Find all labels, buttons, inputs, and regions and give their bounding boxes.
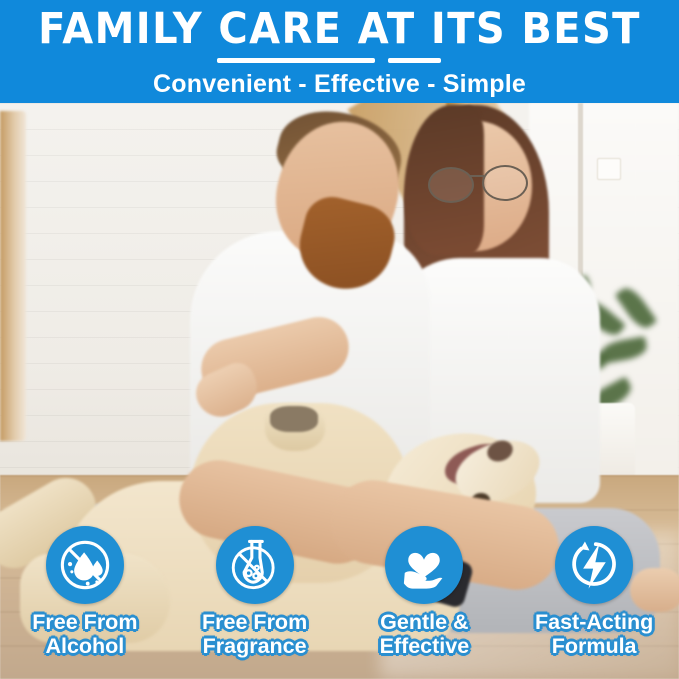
heart-in-hand-icon: [396, 537, 452, 593]
product-infographic: FAMILY CARE AT ITS BEST Convenient - Eff…: [0, 0, 679, 679]
feature-gentle-effective: Gentle & Effective: [340, 526, 510, 679]
feature-icon-circle: [46, 526, 124, 604]
feature-badges: Free From Alcohol: [0, 526, 679, 679]
feature-free-from-fragrance: Free From Fragrance: [170, 526, 340, 679]
feature-icon-circle: [385, 526, 463, 604]
photo-door-frame: [0, 111, 26, 441]
photo-dog-paw-pads: [270, 406, 318, 432]
header-banner: FAMILY CARE AT ITS BEST Convenient - Eff…: [0, 0, 679, 103]
lightning-refresh-icon: [565, 536, 623, 594]
feature-fast-acting-formula: Fast-Acting Formula: [509, 526, 679, 679]
feature-free-from-alcohol: Free From Alcohol: [0, 526, 170, 679]
feature-label: Fast-Acting Formula: [535, 610, 653, 658]
feature-label: Gentle & Effective: [380, 610, 470, 658]
feature-icon-circle: [555, 526, 633, 604]
no-alcohol-droplet-icon: [56, 536, 114, 594]
feature-label: Free From Alcohol: [32, 610, 137, 658]
page-title: FAMILY CARE AT ITS BEST: [24, 5, 655, 53]
no-fragrance-flask-icon: [226, 536, 284, 594]
feature-icon-circle: [216, 526, 294, 604]
divider-line-short: [388, 58, 441, 63]
divider-line-long: [217, 58, 375, 63]
title-divider: [0, 58, 679, 64]
photo-woman-glasses: [426, 165, 530, 199]
photo-wall-outlet: [597, 158, 621, 180]
feature-label: Free From Fragrance: [202, 610, 307, 658]
header-subtitle: Convenient - Effective - Simple: [0, 68, 679, 100]
